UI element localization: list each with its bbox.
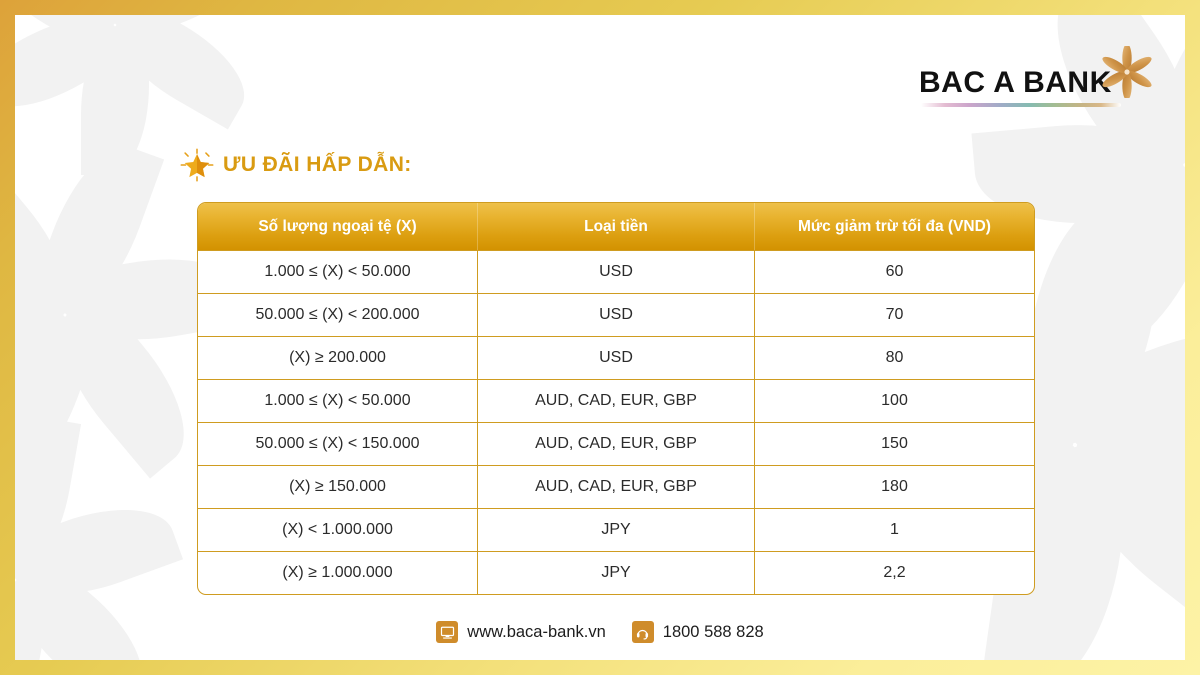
cell-currency: AUD, CAD, EUR, GBP xyxy=(478,465,755,508)
table-row: (X) ≥ 1.000.000 JPY 2,2 xyxy=(198,551,1034,594)
cell-discount: 1 xyxy=(755,508,1034,551)
table-row: (X) ≥ 200.000 USD 80 xyxy=(198,336,1034,379)
cell-discount: 2,2 xyxy=(755,551,1034,594)
table-row: 50.000 ≤ (X) < 200.000 USD 70 xyxy=(198,293,1034,336)
column-header-discount: Mức giảm trừ tối đa (VND) xyxy=(755,203,1034,250)
table-header-row: Số lượng ngoại tệ (X) Loại tiền Mức giảm… xyxy=(198,203,1034,250)
monitor-icon xyxy=(436,621,458,643)
cell-amount: 1.000 ≤ (X) < 50.000 xyxy=(198,379,478,422)
cell-discount: 150 xyxy=(755,422,1034,465)
flower-icon xyxy=(1101,46,1153,98)
cell-amount: (X) ≥ 200.000 xyxy=(198,336,478,379)
table-row: 50.000 ≤ (X) < 150.000 AUD, CAD, EUR, GB… xyxy=(198,422,1034,465)
cell-discount: 60 xyxy=(755,250,1034,293)
cell-amount: 50.000 ≤ (X) < 150.000 xyxy=(198,422,478,465)
table-row: (X) ≥ 150.000 AUD, CAD, EUR, GBP 180 xyxy=(198,465,1034,508)
cell-discount: 70 xyxy=(755,293,1034,336)
table-body: 1.000 ≤ (X) < 50.000 USD 60 50.000 ≤ (X)… xyxy=(198,250,1034,594)
fx-discount-table: Số lượng ngoại tệ (X) Loại tiền Mức giảm… xyxy=(197,202,1035,595)
logo-wordmark: BAC A BANK xyxy=(919,66,1119,100)
cell-discount: 180 xyxy=(755,465,1034,508)
poster-frame: BAC A BANK xyxy=(0,0,1200,675)
cell-amount: (X) < 1.000.000 xyxy=(198,508,478,551)
footer-website[interactable]: www.baca-bank.vn xyxy=(436,621,606,643)
cell-amount: 1.000 ≤ (X) < 50.000 xyxy=(198,250,478,293)
cell-discount: 100 xyxy=(755,379,1034,422)
bank-logo: BAC A BANK xyxy=(919,48,1149,120)
footer-contact-bar: www.baca-bank.vn 1800 588 828 xyxy=(15,610,1185,654)
footer-hotline-text: 1800 588 828 xyxy=(663,623,764,642)
cell-amount: 50.000 ≤ (X) < 200.000 xyxy=(198,293,478,336)
table-row: 1.000 ≤ (X) < 50.000 AUD, CAD, EUR, GBP … xyxy=(198,379,1034,422)
footer-website-text: www.baca-bank.vn xyxy=(467,623,606,642)
footer-hotline[interactable]: 1800 588 828 xyxy=(632,621,764,643)
logo-gradient-rule xyxy=(921,103,1121,107)
table-row: (X) < 1.000.000 JPY 1 xyxy=(198,508,1034,551)
cell-amount: (X) ≥ 150.000 xyxy=(198,465,478,508)
cell-currency: AUD, CAD, EUR, GBP xyxy=(478,422,755,465)
section-heading-text: ƯU ĐÃI HẤP DẪN: xyxy=(223,153,412,177)
cell-currency: USD xyxy=(478,250,755,293)
cell-amount: (X) ≥ 1.000.000 xyxy=(198,551,478,594)
section-heading: ƯU ĐÃI HẤP DẪN: xyxy=(180,148,412,182)
headset-icon xyxy=(632,621,654,643)
cell-currency: JPY xyxy=(478,508,755,551)
cell-currency: USD xyxy=(478,293,755,336)
cell-currency: AUD, CAD, EUR, GBP xyxy=(478,379,755,422)
table-row: 1.000 ≤ (X) < 50.000 USD 60 xyxy=(198,250,1034,293)
cell-discount: 80 xyxy=(755,336,1034,379)
column-header-amount: Số lượng ngoại tệ (X) xyxy=(198,203,478,250)
cell-currency: JPY xyxy=(478,551,755,594)
shining-star-icon xyxy=(180,148,214,182)
cell-currency: USD xyxy=(478,336,755,379)
poster-canvas: BAC A BANK xyxy=(15,15,1185,660)
column-header-currency: Loại tiền xyxy=(478,203,755,250)
